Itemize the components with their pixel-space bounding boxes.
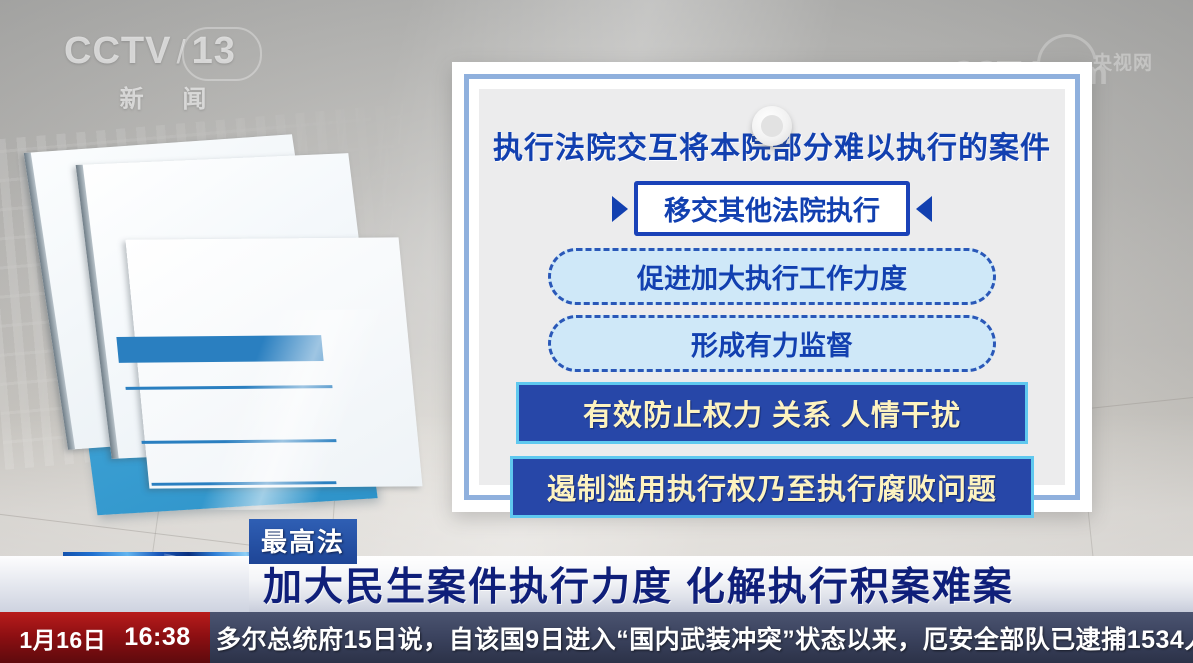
source-badge: 最高法 <box>249 519 357 564</box>
logo-cctv-text: CCTV <box>64 30 171 73</box>
info-graphic-panel: 执行法院交互将本院部分难以执行的案件 移交其他法院执行 促进加大执行工作力度 形… <box>452 62 1092 512</box>
headline-text: 加大民生案件执行力度 化解执行积案难案 <box>249 556 1014 612</box>
solid-bar-1: 有效防止权力 关系 人情干扰 <box>516 382 1028 444</box>
document-title-bar <box>116 335 323 363</box>
ticker-clock: 16:38 <box>124 623 190 652</box>
dashed-item-2: 形成有力监督 <box>548 315 996 372</box>
document-illustration <box>30 130 450 550</box>
paper-edge <box>24 153 75 450</box>
panel-content: 执行法院交互将本院部分难以执行的案件 移交其他法院执行 促进加大执行工作力度 形… <box>479 89 1065 485</box>
arrow-left-icon <box>916 196 932 222</box>
headline-bar: 加大民生案件执行力度 化解执行积案难案 <box>249 556 1193 612</box>
logo-subtitle: 新 闻 <box>64 79 264 114</box>
watermark-chinese: 央视网 <box>1093 48 1153 75</box>
solid-bar-2: 遏制滥用执行权乃至执行腐败问题 <box>510 456 1034 518</box>
logo-ring-icon <box>182 27 262 81</box>
panel-pin-icon <box>752 106 792 146</box>
ticker-time-block: 1月16日 16:38 <box>0 612 210 663</box>
highlight-row: 移交其他法院执行 <box>612 181 932 236</box>
highlight-box: 移交其他法院执行 <box>634 181 910 236</box>
paper-sheet-front <box>126 237 423 488</box>
arrow-right-icon <box>612 196 628 222</box>
ticker-date: 1月16日 <box>19 621 106 655</box>
ticker-news-text: 多尔总统府15日说，自该国9日进入“国内武装冲突”状态以来，厄安全部队已逮捕15… <box>210 620 1193 656</box>
channel-logo: CCTV / 13 新 闻 <box>64 30 264 120</box>
broadcast-frame: CCTV / 13 新 闻 CCTV.com 央视网 执行法院交互将本院 <box>0 0 1193 663</box>
dashed-item-1: 促进加大执行工作力度 <box>548 248 996 305</box>
news-ticker: 1月16日 16:38 多尔总统府15日说，自该国9日进入“国内武装冲突”状态以… <box>0 612 1193 663</box>
lower-third-left-strip <box>0 556 249 612</box>
